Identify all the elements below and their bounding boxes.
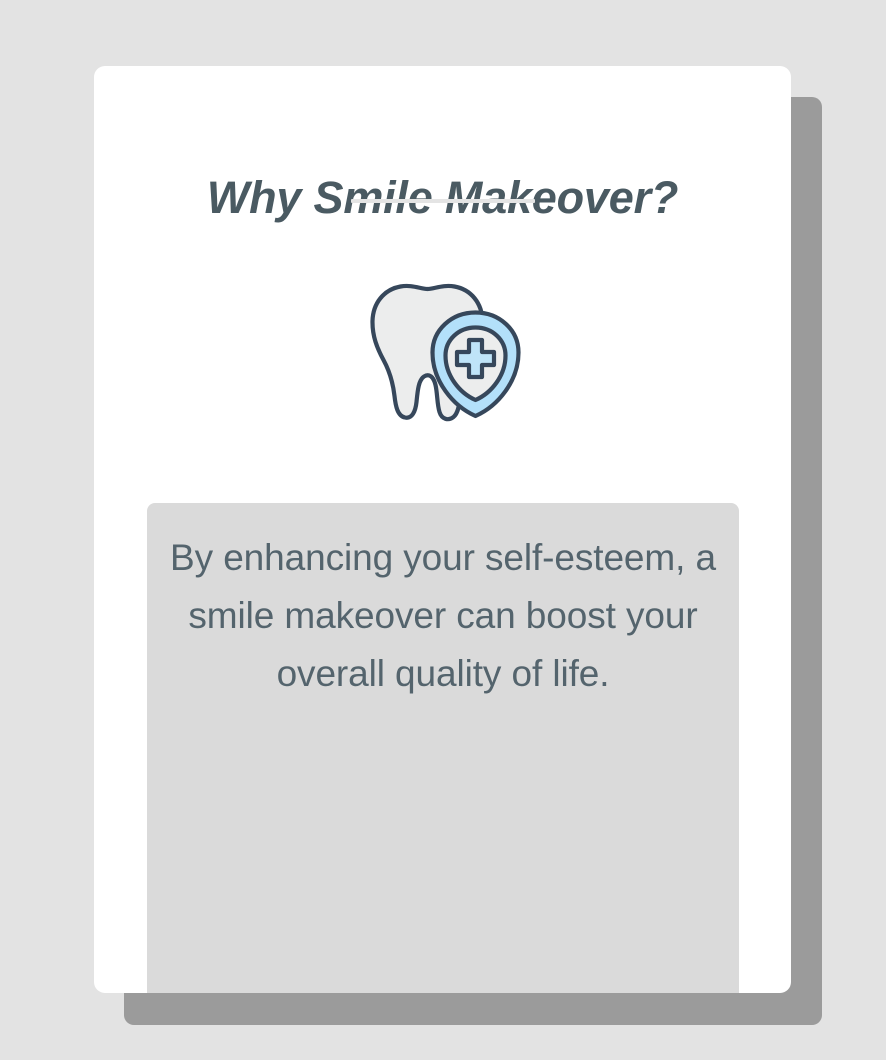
description-panel: By enhancing your self-esteem, a smile m… [147, 503, 739, 993]
title-divider [351, 199, 535, 203]
page-title: Why Smile Makeover? [94, 170, 791, 226]
tooth-shield-icon [362, 280, 528, 426]
slide-canvas: Why Smile Makeover? By enhancing your se… [0, 0, 886, 1060]
content-card: Why Smile Makeover? By enhancing your se… [94, 66, 791, 993]
description-text: By enhancing your self-esteem, a smile m… [147, 529, 739, 703]
